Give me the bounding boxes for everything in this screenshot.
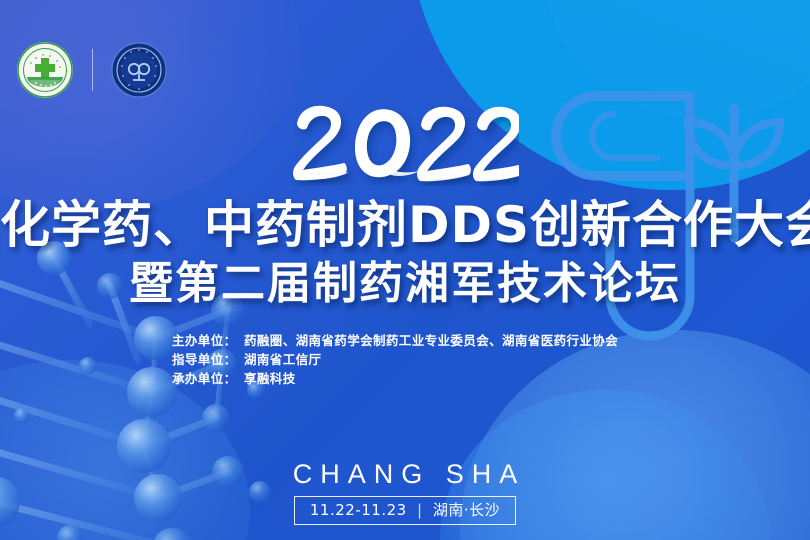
organizer-row-host: 主办单位： 药融圈、湖南省药学会制药工业专业委员会、湖南省医药行业协会 (172, 331, 618, 350)
city-name-cn: 湖南·长沙 (433, 501, 500, 519)
organizer-value-host: 药融圈、湖南省药学会制药工业专业委员会、湖南省医药行业协会 (244, 331, 618, 350)
date-venue-box: 11.22-11.23 | 湖南·长沙 (294, 496, 516, 525)
organizer-label-guide: 指导单位： (172, 350, 244, 369)
organizer-label-host: 主办单位： (172, 331, 244, 350)
organizer-row-guide: 指导单位： 湖南省工信厅 (172, 350, 618, 369)
green-cross-medical-logo (16, 41, 74, 99)
conference-poster: 化学药、中药制剂DDS创新合作大会 暨第二届制药湘军技术论坛 主办单位： 药融圈… (0, 0, 810, 540)
year-2022-brush-text (291, 100, 519, 186)
page-title: 化学药、中药制剂DDS创新合作大会 (0, 197, 810, 253)
date-range: 11.22-11.23 (310, 501, 407, 519)
logo-divider (92, 49, 93, 91)
organizer-block: 主办单位： 药融圈、湖南省药学会制药工业专业委员会、湖南省医药行业协会 指导单位… (172, 331, 618, 388)
organizer-row-undertaker: 承办单位： 享融科技 (172, 369, 618, 388)
logo-row (16, 41, 167, 99)
organizer-value-undertaker: 享融科技 (244, 369, 618, 388)
organizer-label-undertaker: 承办单位： (172, 369, 244, 388)
year-heading (0, 100, 810, 191)
pharmaceutical-society-seal (111, 42, 167, 98)
date-separator: | (412, 501, 428, 519)
page-subtitle: 暨第二届制药湘军技术论坛 (0, 258, 810, 310)
organizer-value-guide: 湖南省工信厅 (244, 350, 618, 369)
city-date-block: CHANG SHA 11.22-11.23 | 湖南·长沙 (0, 459, 810, 525)
city-name-en: CHANG SHA (0, 459, 810, 489)
